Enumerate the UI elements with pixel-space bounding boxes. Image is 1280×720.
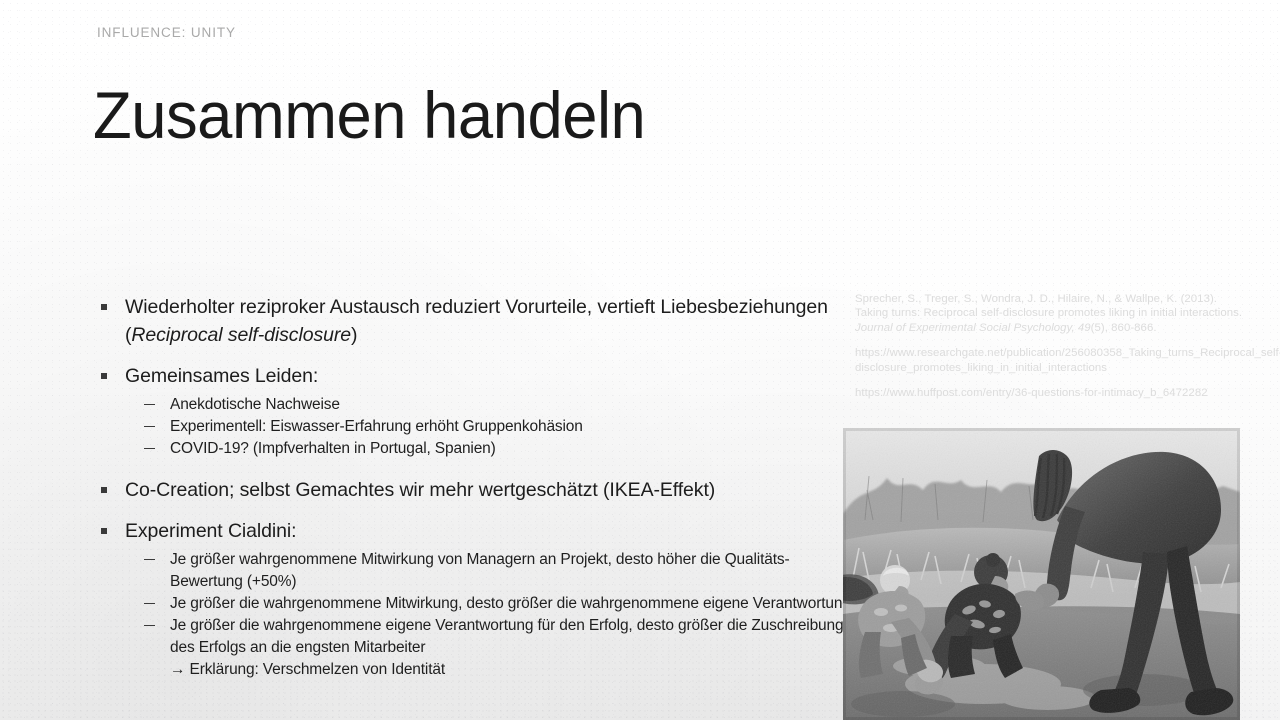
bullet-group: Experiment Cialdini: Je größer wahrgenom… (98, 517, 853, 681)
bullet-level1-post: ) (351, 324, 357, 346)
body-content: Wiederholter reziproker Austausch reduzi… (98, 293, 853, 693)
citation-url-2[interactable]: https://www.huffpost.com/entry/36-questi… (855, 386, 1247, 400)
bullet-level1-text: Experiment Cialdini: (125, 520, 296, 542)
bullet-level2: Anekdotische Nachweise (98, 394, 853, 416)
bullet-level1: Wiederholter reziproker Austausch reduzi… (98, 293, 853, 349)
bullet-level2-text: Anekdotische Nachweise (170, 396, 340, 413)
bullet-group: Gemeinsames Leiden: Anekdotische Nachwei… (98, 362, 853, 460)
bullet-level2-text: Je größer wahrgenommene Mitwirkung von M… (170, 551, 789, 590)
bullet-level2-text: Je größer die wahrgenommene eigene Veran… (170, 617, 843, 656)
sub-bullet-list: Anekdotische Nachweise Experimentell: Ei… (98, 394, 853, 460)
dash-bullet-icon (144, 426, 155, 427)
bullet-trailing-note: → Erklärung: Verschmelzen von Identität (98, 659, 853, 681)
bullet-level2: Je größer die wahrgenommene Mitwirkung, … (98, 593, 853, 615)
dash-bullet-icon (144, 603, 155, 604)
citation-block: Sprecher, S., Treger, S., Wondra, J. D.,… (855, 292, 1247, 400)
bullet-level1-text: Co-Creation; selbst Gemachtes wir mehr w… (125, 479, 715, 501)
citation-journal: Journal of Experimental Social Psycholog… (855, 322, 1091, 334)
bullet-level2-text: COVID-19? (Impfverhalten in Portugal, Sp… (170, 440, 496, 457)
bullet-level2-text: Experimentell: Eiswasser-Erfahrung erhöh… (170, 418, 583, 435)
bullet-level2: Experimentell: Eiswasser-Erfahrung erhöh… (98, 416, 853, 438)
citation-url-1[interactable]: https://www.researchgate.net/publication… (855, 346, 1247, 375)
dash-bullet-icon (144, 448, 155, 449)
bullet-level2-text: Je größer die wahrgenommene Mitwirkung, … (170, 595, 851, 612)
bullet-group: Co-Creation; selbst Gemachtes wir mehr w… (98, 476, 853, 504)
square-bullet-icon (101, 528, 107, 534)
dash-bullet-icon (144, 559, 155, 560)
bullet-level1-text: Gemeinsames Leiden: (125, 365, 318, 387)
slide: INFLUENCE: UNITY Zusammen handeln Wieder… (0, 0, 1280, 720)
square-bullet-icon (101, 487, 107, 493)
bullet-level2: COVID-19? (Impfverhalten in Portugal, Sp… (98, 438, 853, 460)
dash-bullet-icon (144, 625, 155, 626)
slide-eyebrow: INFLUENCE: UNITY (97, 25, 236, 40)
citation-reference-pre: Sprecher, S., Treger, S., Wondra, J. D.,… (855, 293, 1242, 319)
page-title: Zusammen handeln (93, 82, 645, 148)
bullet-level1-italic: Reciprocal self-disclosure (131, 324, 351, 346)
bullet-level1: Experiment Cialdini: (98, 517, 853, 545)
bullet-level2: Je größer die wahrgenommene eigene Veran… (98, 615, 853, 659)
square-bullet-icon (101, 373, 107, 379)
citation-reference-post: (5), 860-866. (1091, 322, 1157, 334)
bullet-level2: Je größer wahrgenommene Mitwirkung von M… (98, 549, 853, 593)
dash-bullet-icon (144, 404, 155, 405)
citation-reference: Sprecher, S., Treger, S., Wondra, J. D.,… (855, 292, 1247, 335)
sub-bullet-list: Je größer wahrgenommene Mitwirkung von M… (98, 549, 853, 681)
bullet-level1: Co-Creation; selbst Gemachtes wir mehr w… (98, 476, 853, 504)
bullet-trailing-note-text: → Erklärung: Verschmelzen von Identität (170, 661, 445, 678)
square-bullet-icon (101, 304, 107, 310)
bullet-level1: Gemeinsames Leiden: (98, 362, 853, 390)
bullet-group: Wiederholter reziproker Austausch reduzi… (98, 293, 853, 349)
slide-photo (843, 428, 1240, 720)
